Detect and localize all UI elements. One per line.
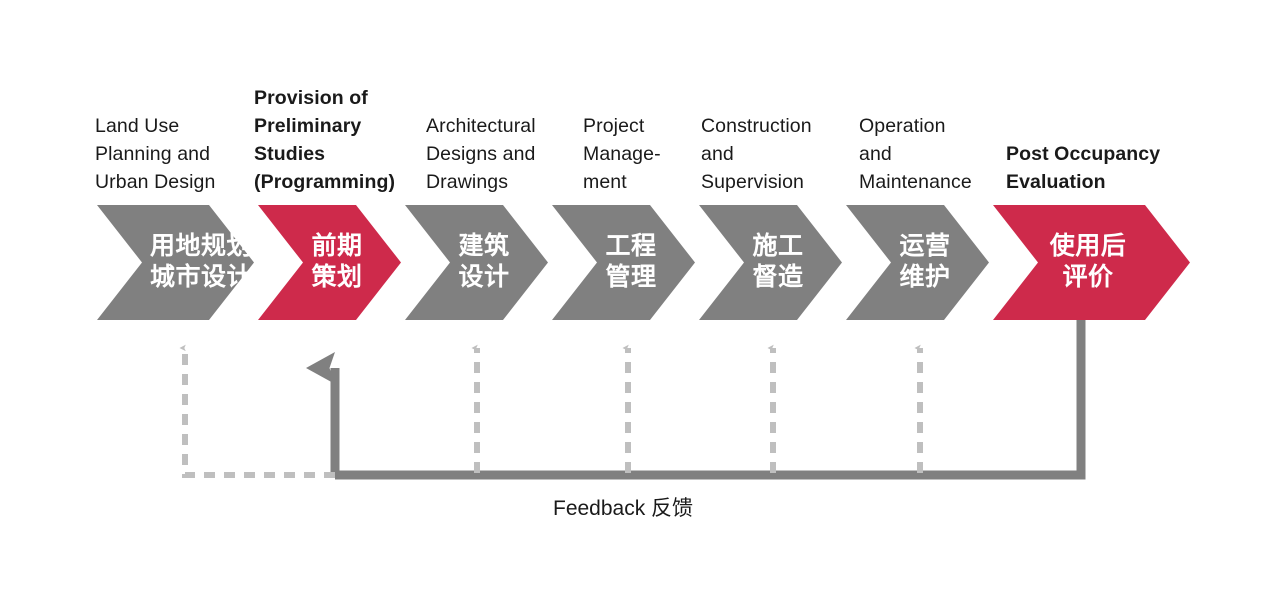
chevron-text-preliminary-studies: 前期 策划 [303, 231, 371, 293]
chevron-text-project-management: 工程 管理 [597, 231, 665, 293]
feedback-risers [477, 348, 920, 473]
feedback-label: Feedback 反馈 [553, 492, 693, 522]
stage-label-operation-maintenance: Operation and Maintenance [859, 112, 972, 196]
process-diagram: Land Use Planning and Urban Design Provi… [0, 0, 1269, 614]
chevron-text-post-occupancy-evaluation: 使用后 评价 [1038, 231, 1138, 293]
feedback-loop-solid [335, 320, 1081, 475]
stage-label-construction-supervision: Construction and Supervision [701, 112, 812, 196]
feedback-loop-dashed [185, 348, 335, 475]
stage-label-land-use-planning: Land Use Planning and Urban Design [95, 112, 215, 196]
chevron-text-architectural-design: 建筑 设计 [450, 231, 518, 293]
stage-label-project-management: Project Manage- ment [583, 112, 661, 196]
stage-label-post-occupancy-evaluation: Post Occupancy Evaluation [1006, 140, 1160, 196]
chevron-text-land-use-planning: 用地规划 城市设计 [142, 231, 260, 293]
chevron-text-construction-supervision: 施工 督造 [744, 231, 812, 293]
chevron-text-operation-maintenance: 运营 维护 [891, 231, 959, 293]
stage-label-architectural-design: Architectural Designs and Drawings [426, 112, 536, 196]
stage-label-preliminary-studies: Provision of Preliminary Studies (Progra… [254, 84, 395, 196]
